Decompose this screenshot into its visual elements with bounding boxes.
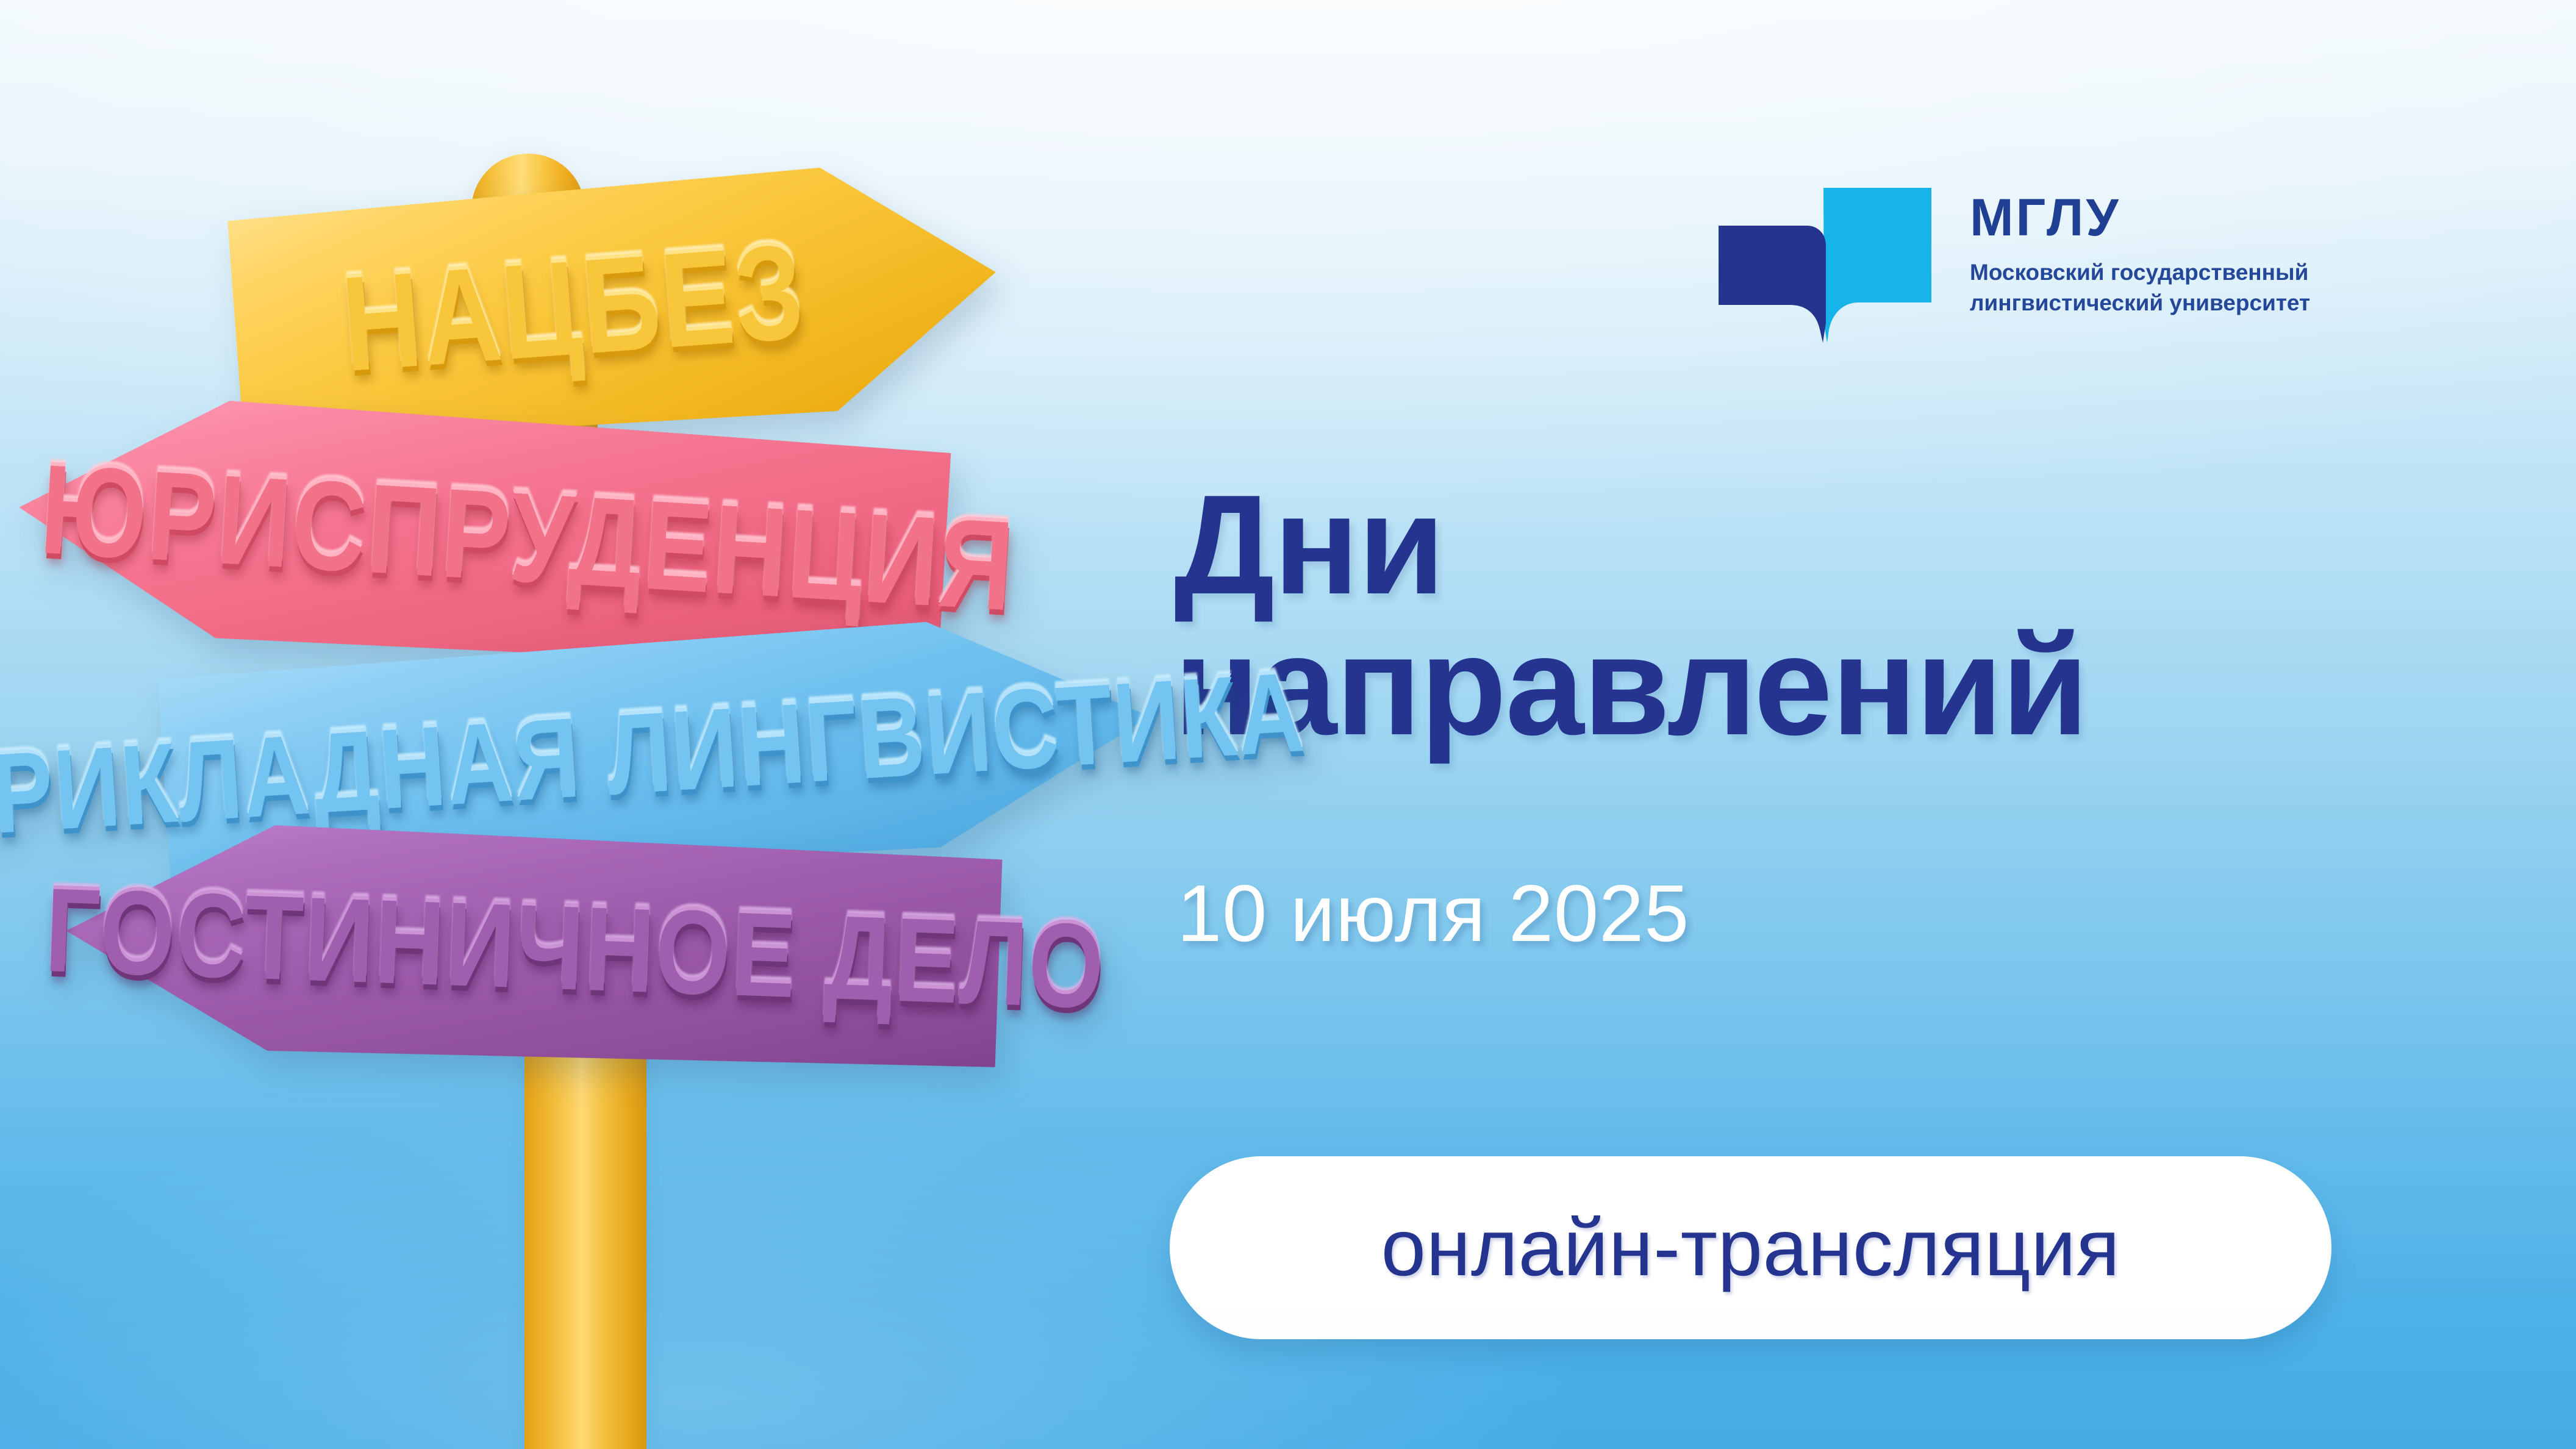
logo-subtitle: Московский государственный лингвистическ… [1970,257,2310,318]
promo-banner: НАЦБЕЗ ЮРИСПРУДЕНЦИЯ ПРИКЛАДНАЯ ЛИНГВИСТ… [0,0,2576,1449]
event-date: 10 июля 2025 [1177,873,1689,954]
logo-abbreviation: МГЛУ [1970,191,2310,244]
signpost-illustration: НАЦБЕЗ ЮРИСПРУДЕНЦИЯ ПРИКЛАДНАЯ ЛИНГВИСТ… [0,0,1159,1449]
sign-hotel-business: ГОСТИНИЧНОЕ ДЕЛО [62,818,1003,1076]
headline-line-1: Дни [1174,482,2552,609]
speech-bubbles-icon [1717,183,1933,366]
online-broadcast-button[interactable]: онлайн-трансляция [1170,1156,2331,1339]
online-broadcast-button-label: онлайн-трансляция [1381,1207,2120,1288]
logo-wordmark: МГЛУ Московский государственный лингвист… [1970,183,2310,318]
logo-subtitle-line-1: Московский государственный [1970,257,2310,288]
mglu-logo[interactable]: МГЛУ Московский государственный лингвист… [1717,183,2310,366]
logo-subtitle-line-2: лингвистический университет [1970,288,2310,318]
